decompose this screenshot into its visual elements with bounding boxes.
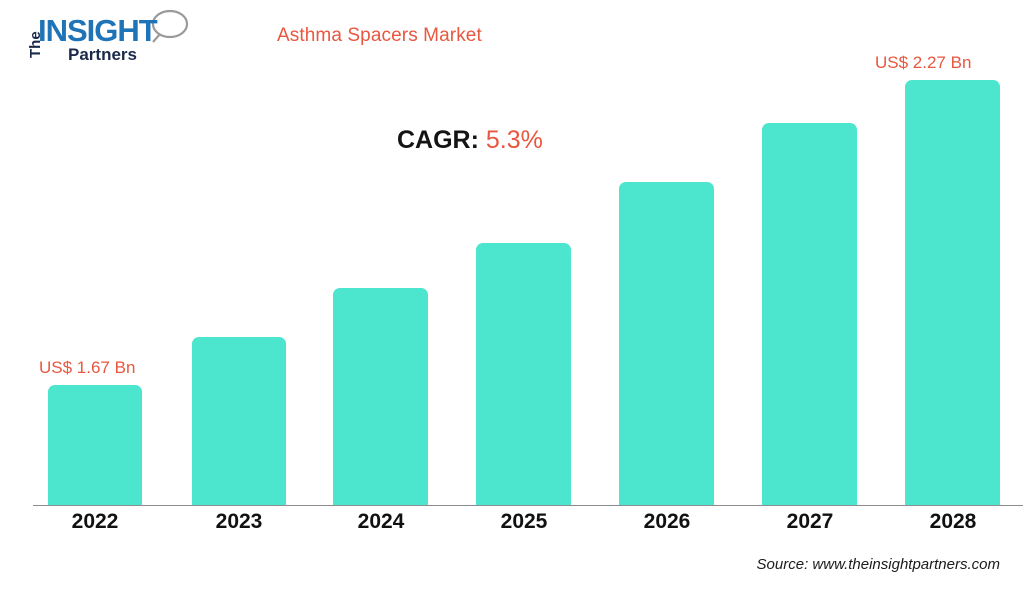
x-tick-label-2026: 2026: [607, 510, 727, 534]
bar-2028: [905, 80, 1000, 505]
chart-canvas: The INSIGHT Partners Asthma Spacers Mark…: [0, 0, 1027, 591]
bar-2025: [476, 243, 571, 505]
bar-2024: [333, 288, 428, 505]
x-tick-label-2022: 2022: [35, 510, 155, 534]
bar-2026: [619, 182, 714, 505]
bar-2023: [192, 337, 286, 505]
x-tick-label-2024: 2024: [321, 510, 441, 534]
source-attribution: Source: www.theinsightpartners.com: [757, 556, 1000, 573]
x-tick-label-2027: 2027: [750, 510, 870, 534]
x-axis-line: [33, 505, 1023, 506]
x-tick-label-2025: 2025: [464, 510, 584, 534]
bar-2027: [762, 123, 857, 505]
bar-2022: [48, 385, 142, 505]
x-tick-label-2028: 2028: [893, 510, 1013, 534]
x-tick-label-2023: 2023: [179, 510, 299, 534]
bar-value-label-2028: US$ 2.27 Bn: [875, 53, 971, 73]
bar-chart-plot-area: US$ 1.67 Bn US$ 2.27 Bn 2022 2023 2024 2…: [0, 0, 1027, 591]
bar-value-label-2022: US$ 1.67 Bn: [39, 358, 135, 378]
